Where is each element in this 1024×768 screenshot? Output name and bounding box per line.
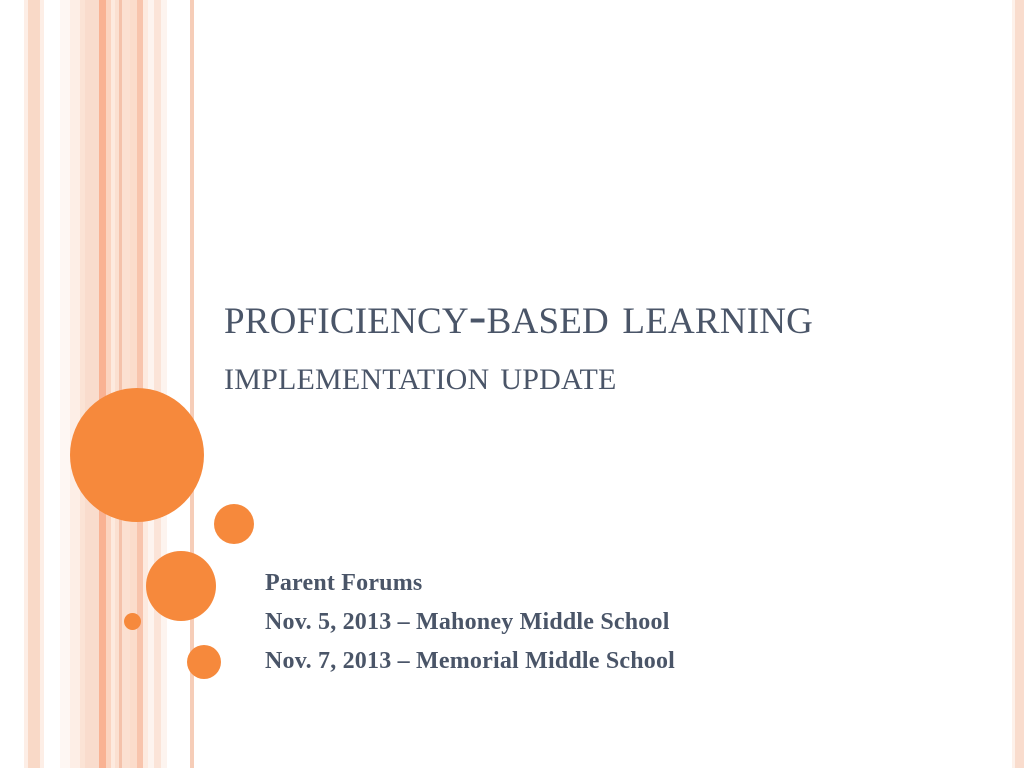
decorative-stripe-band bbox=[0, 0, 194, 768]
circle-medium bbox=[146, 551, 216, 621]
circle-small bbox=[214, 504, 254, 544]
slide-title-block: Proficiency-Based Learning Implementatio… bbox=[224, 288, 924, 400]
circle-small-lower bbox=[187, 645, 221, 679]
stripe-22 bbox=[167, 0, 190, 768]
presentation-slide: Proficiency-Based Learning Implementatio… bbox=[0, 0, 1024, 768]
stripe-5 bbox=[60, 0, 70, 768]
slide-title-subheading: Implementation Update bbox=[224, 352, 924, 400]
stripe-15 bbox=[122, 0, 130, 768]
subtitle-line-3: Nov. 7, 2013 – Memorial Middle School bbox=[265, 642, 925, 681]
slide-subtitle-block: Parent ForumsNov. 5, 2013 – Mahoney Midd… bbox=[265, 564, 925, 681]
stripe-0 bbox=[0, 0, 24, 768]
slide-title-main: Proficiency-Based Learning bbox=[224, 288, 924, 346]
stripe-2 bbox=[28, 0, 40, 768]
stripe-20 bbox=[154, 0, 161, 768]
circle-tiny bbox=[124, 613, 141, 630]
stripe-4 bbox=[44, 0, 60, 768]
subtitle-line-1: Parent Forums bbox=[265, 564, 925, 603]
stripe-10 bbox=[99, 0, 106, 768]
stripe-9 bbox=[91, 0, 99, 768]
right-edge-accent-stripe bbox=[1015, 0, 1024, 768]
subtitle-line-2: Nov. 5, 2013 – Mahoney Middle School bbox=[265, 603, 925, 642]
stripe-16 bbox=[130, 0, 137, 768]
circle-large bbox=[70, 388, 204, 522]
stripe-6 bbox=[70, 0, 80, 768]
